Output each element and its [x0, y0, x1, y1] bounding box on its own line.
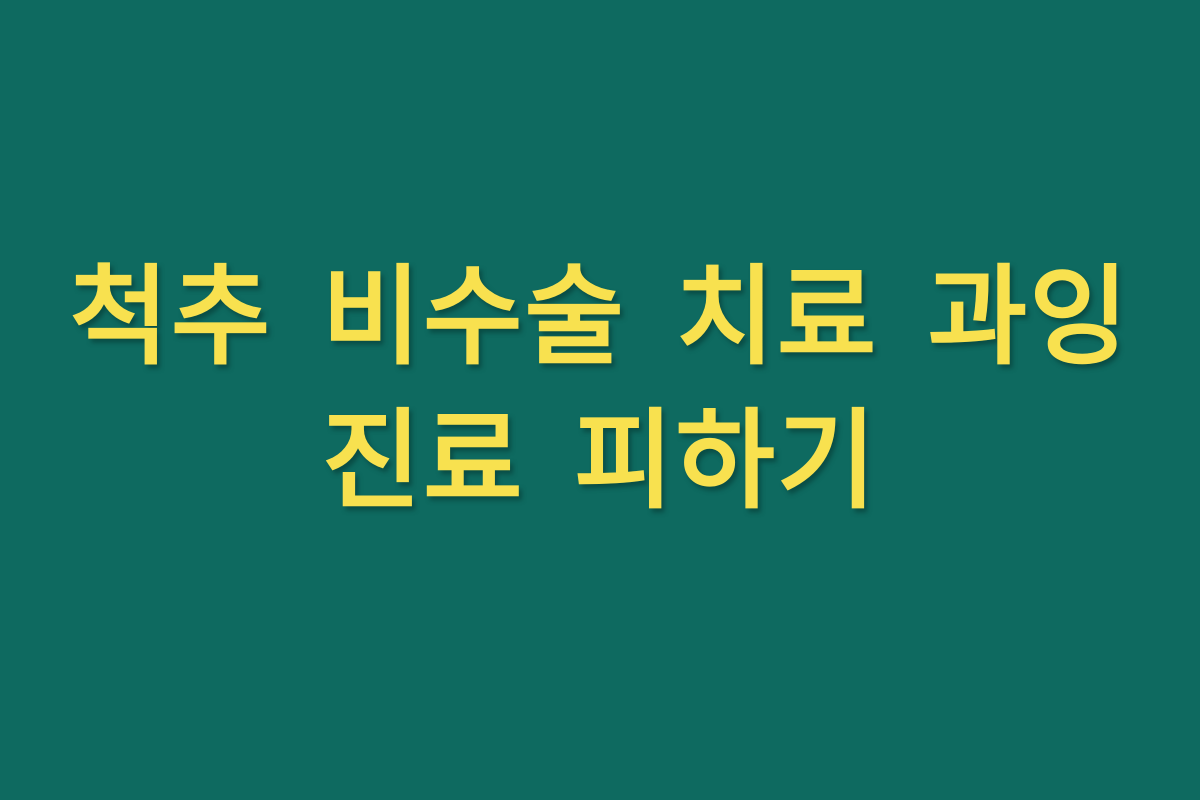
headline-line-2: 진료 피하기: [40, 390, 1160, 534]
headline-line-1: 척추 비수술 치료 과잉: [40, 246, 1160, 390]
poster-canvas: 척추 비수술 치료 과잉 진료 피하기: [0, 0, 1200, 800]
headline-block: 척추 비수술 치료 과잉 진료 피하기: [0, 246, 1200, 534]
